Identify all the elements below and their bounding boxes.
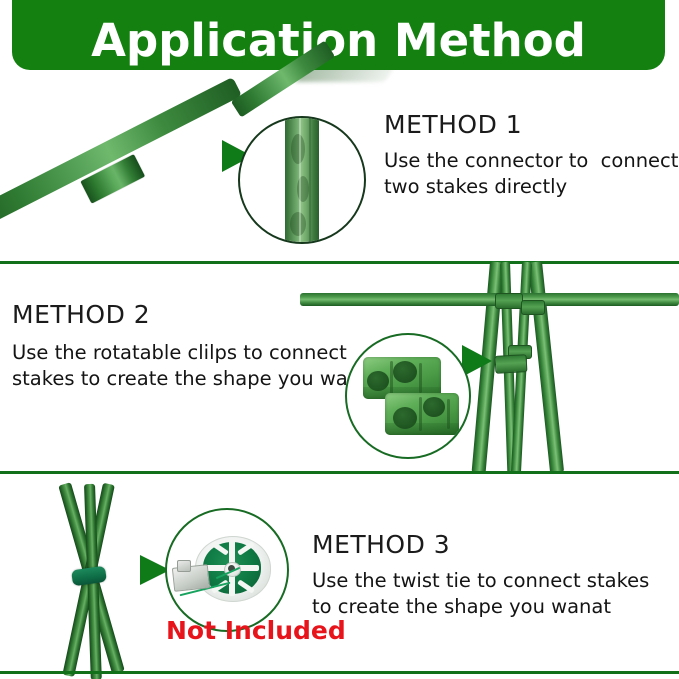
method2-body-line-2: stakes to create the shape you want (12, 366, 368, 392)
method2-clip-lower-left (495, 354, 528, 374)
method2-title: METHOD 2 (12, 300, 150, 329)
method3-title: METHOD 3 (312, 530, 450, 559)
method2-clip-upper-left (495, 293, 523, 309)
connector-tube-icon (285, 116, 319, 244)
section-divider-3 (0, 671, 679, 674)
method3-callout-circle (165, 508, 289, 632)
page-title: Application Method (91, 16, 586, 66)
not-included-label: Not Included (166, 616, 346, 645)
method1-title: METHOD 1 (384, 110, 522, 139)
section-divider-1 (0, 261, 679, 264)
method1-lower-stake (0, 77, 242, 232)
method2-clip-upper-right (521, 300, 545, 315)
application-method-infographic: Application Method METHOD 1 Use the conn… (0, 0, 679, 679)
method2-callout-circle (345, 333, 471, 459)
method1-callout-circle (238, 116, 366, 244)
method1-body-line-2: two stakes directly (384, 174, 567, 200)
method2-horizontal-bar (300, 293, 679, 306)
method3-body-line-2: to create the shape you wanat (312, 594, 611, 620)
header-banner: Application Method (12, 0, 665, 70)
clip-icon-2 (385, 393, 459, 435)
method3-body-line-1: Use the twist tie to connect stakes (312, 568, 649, 594)
wire-cutter-notch-icon (177, 560, 191, 572)
method1-body-line-1: Use the connector to connect (384, 148, 678, 174)
method2-body-line-1: Use the rotatable clilps to connect (12, 340, 347, 366)
method3-twist-tie-binding (71, 566, 107, 587)
section-divider-2 (0, 471, 679, 474)
